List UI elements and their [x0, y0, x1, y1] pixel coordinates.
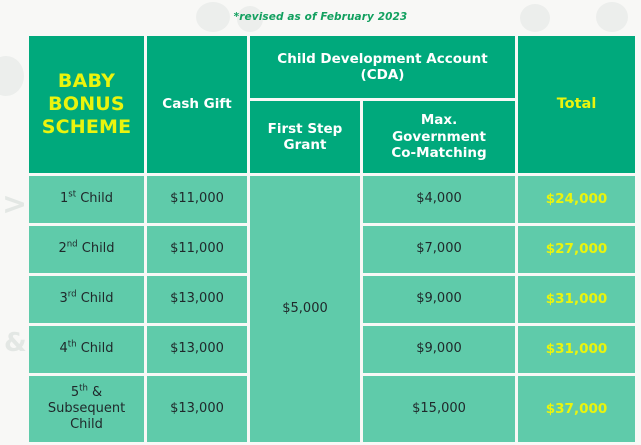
cell-max-gov-co-matching-child-1: $4,000	[363, 176, 515, 223]
cell-max-gov-co-matching-child-3: $9,000	[363, 276, 515, 323]
child-ordinal-number: 3	[59, 291, 67, 306]
table-row: 1st Child $11,000 $5,000 $4,000 $24,000	[29, 176, 635, 223]
cell-max-gov-co-matching-child-2: $7,000	[363, 226, 515, 273]
table-header-row-primary: BABY BONUS SCHEME Cash Gift Child Develo…	[29, 36, 635, 98]
cell-total-child-5: $37,000	[518, 376, 635, 442]
header-total: Total	[518, 36, 635, 173]
child-ordinal-suffix: th	[68, 340, 77, 350]
row-label-child-4: 4th Child	[29, 326, 144, 373]
header-max-gov-line-2: Government	[363, 129, 515, 145]
child-ordinal-suffix: nd	[67, 240, 78, 250]
watermark-text: >	[2, 190, 27, 220]
child-ordinal-number: 5	[71, 385, 79, 400]
row-label-child-5: 5th & Subsequent Child	[29, 376, 144, 442]
header-baby-bonus-scheme: BABY BONUS SCHEME	[29, 36, 144, 173]
child-ordinal-suffix: rd	[68, 290, 77, 300]
header-child-development-account: Child Development Account (CDA)	[250, 36, 515, 98]
header-scheme-line-1: BABY	[29, 70, 144, 93]
cell-total-child-3: $31,000	[518, 276, 635, 323]
revision-note: *revised as of February 2023	[0, 11, 641, 23]
cell-total-child-4: $31,000	[518, 326, 635, 373]
header-max-gov-line-1: Max.	[363, 112, 515, 128]
header-cash-gift: Cash Gift	[147, 36, 247, 173]
cell-max-gov-co-matching-child-5: $15,000	[363, 376, 515, 442]
child-label-word: Child	[81, 291, 114, 306]
header-cda-line-1: Child Development Account	[250, 51, 515, 67]
child-label-word: Child	[80, 191, 113, 206]
row-label-child-2: 2nd Child	[29, 226, 144, 273]
child-ordinal-suffix: st	[68, 190, 76, 200]
cell-total-child-1: $24,000	[518, 176, 635, 223]
baby-bonus-scheme-table: BABY BONUS SCHEME Cash Gift Child Develo…	[26, 33, 638, 445]
child-ordinal-number: 2	[58, 241, 66, 256]
child-label-word: Child	[82, 241, 115, 256]
header-max-government-co-matching: Max. Government Co-Matching	[363, 101, 515, 173]
header-first-step-grant-line-1: First Step	[250, 121, 360, 137]
cell-max-gov-co-matching-child-4: $9,000	[363, 326, 515, 373]
header-max-gov-line-3: Co-Matching	[363, 145, 515, 161]
child-label-line-2: Subsequent	[29, 401, 144, 417]
cell-cash-gift-child-5: $13,000	[147, 376, 247, 442]
header-scheme-line-3: SCHEME	[29, 116, 144, 139]
header-first-step-grant: First Step Grant	[250, 101, 360, 173]
header-first-step-grant-line-2: Grant	[250, 137, 360, 153]
child-ordinal-number: 1	[60, 191, 68, 206]
child-label-line-3: Child	[29, 417, 144, 433]
cell-cash-gift-child-3: $13,000	[147, 276, 247, 323]
child-ordinal-suffix: th	[79, 384, 88, 394]
header-cda-line-2: (CDA)	[250, 67, 515, 83]
cell-first-step-grant-all-children: $5,000	[250, 176, 360, 442]
watermark-text: &	[4, 330, 27, 356]
watermark-blob	[0, 56, 24, 96]
row-label-child-1: 1st Child	[29, 176, 144, 223]
cell-total-child-2: $27,000	[518, 226, 635, 273]
child-ampersand: &	[92, 385, 102, 400]
child-ordinal-line: 5th &	[29, 385, 144, 401]
cell-cash-gift-child-4: $13,000	[147, 326, 247, 373]
row-label-child-3: 3rd Child	[29, 276, 144, 323]
header-scheme-line-2: BONUS	[29, 93, 144, 116]
child-label-word: Child	[81, 341, 114, 356]
cell-cash-gift-child-1: $11,000	[147, 176, 247, 223]
child-ordinal-number: 4	[59, 341, 67, 356]
cell-cash-gift-child-2: $11,000	[147, 226, 247, 273]
